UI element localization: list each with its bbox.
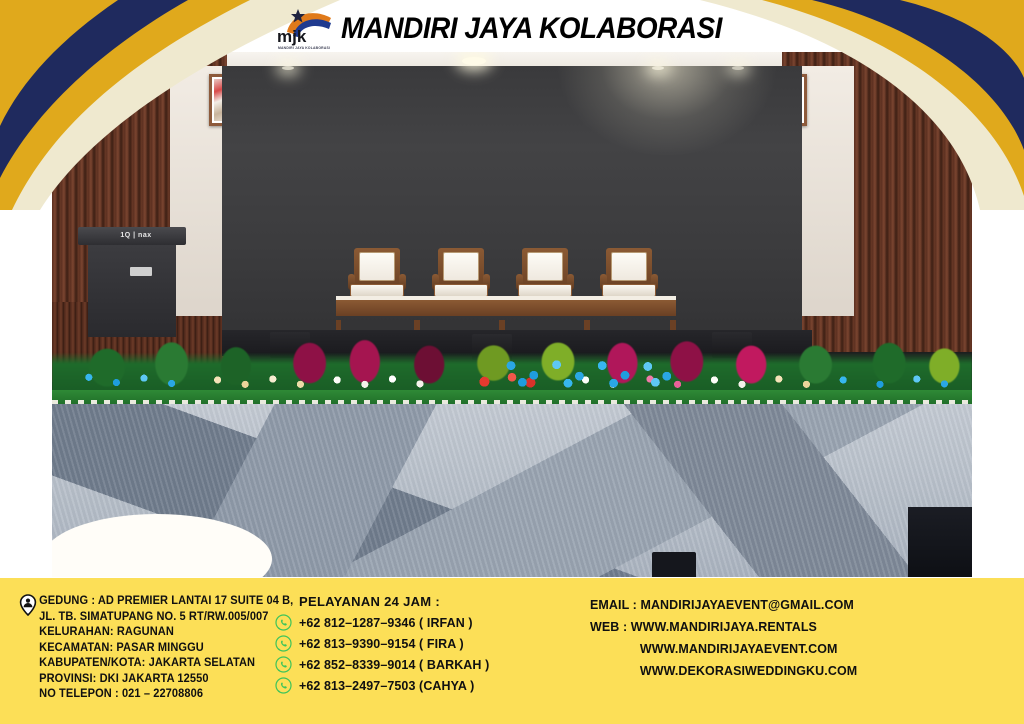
floor-object-right — [908, 507, 972, 577]
event-venue-photo: EXIT 1Q | nax — [52, 52, 972, 577]
web-line[interactable]: WEB : WWW.MANDIRIJAYA.RENTALS — [590, 616, 993, 638]
whatsapp-icon — [275, 656, 292, 673]
web-line-extra[interactable]: WWW.DEKORASIWEDDINGKU.COM — [590, 660, 993, 682]
ceiling-spotlight — [652, 66, 664, 70]
contact-row[interactable]: +62 812–1287–9346 ( IRFAN ) — [275, 614, 565, 631]
podium-nameplate — [130, 267, 152, 276]
svg-text:mjk: mjk — [277, 27, 307, 46]
floor-object-center — [652, 552, 696, 577]
contact-number: +62 813–9390–9154 ( FIRA ) — [299, 636, 464, 651]
ceiling-spotlight — [732, 66, 744, 70]
podium-brand-label: 1Q | nax — [96, 232, 176, 239]
contact-number: +62 812–1287–9346 ( IRFAN ) — [299, 615, 473, 630]
backdrop-light-glow — [552, 66, 782, 246]
contact-row[interactable]: +62 852–8339–9014 ( BARKAH ) — [275, 656, 565, 673]
exit-sign: EXIT — [116, 60, 154, 73]
address-line: GEDUNG : AD PREMIER LANTAI 17 SUITE 04 B… — [18, 594, 277, 610]
company-logo: mjk MANDIRI JAYA KOLABORASI — [273, 6, 335, 52]
contact-number: +62 813–2497–7503 (CAHYA ) — [299, 678, 474, 693]
contact-number: +62 852–8339–9014 ( BARKAH ) — [299, 657, 489, 672]
address-line: KABUPATEN/KOTA: JAKARTA SELATAN — [18, 656, 277, 672]
ceiling-spotlight — [462, 57, 486, 65]
contact-row[interactable]: +62 813–9390–9154 ( FIRA ) — [275, 635, 565, 652]
whatsapp-icon — [275, 614, 292, 631]
page-header: mjk MANDIRI JAYA KOLABORASI MANDIRI JAYA… — [0, 0, 1024, 58]
footer-contact-block: EMAIL : MANDIRIJAYAEVENT@GMAIL.COM WEB :… — [590, 594, 1010, 682]
blue-rose-cluster — [492, 348, 682, 392]
whatsapp-icon — [275, 677, 292, 694]
page-title: MANDIRI JAYA KOLABORASI — [341, 12, 722, 46]
web-line-extra[interactable]: WWW.MANDIRIJAYAEVENT.COM — [590, 638, 993, 660]
service-heading: PELAYANAN 24 JAM : — [299, 594, 565, 609]
address-line: PROVINSI: DKI JAKARTA 12550 — [18, 672, 277, 688]
address-line: JL. TB. SIMATUPANG NO. 5 RT/RW.005/007 — [18, 610, 277, 626]
email-line[interactable]: EMAIL : MANDIRIJAYAEVENT@GMAIL.COM — [590, 594, 993, 616]
contact-row[interactable]: +62 813–2497–7503 (CAHYA ) — [275, 677, 565, 694]
svg-text:MANDIRI JAYA KOLABORASI: MANDIRI JAYA KOLABORASI — [278, 46, 330, 50]
address-line: KELURAHAN: RAGUNAN — [18, 625, 277, 641]
mjk-logo-icon: mjk MANDIRI JAYA KOLABORASI — [273, 6, 335, 52]
whatsapp-icon — [275, 635, 292, 652]
address-line: NO TELEPON : 021 – 22708806 — [18, 687, 277, 703]
page-footer: GEDUNG : AD PREMIER LANTAI 17 SUITE 04 B… — [0, 578, 1024, 724]
ceiling-spotlight — [282, 66, 294, 70]
footer-address-block: GEDUNG : AD PREMIER LANTAI 17 SUITE 04 B… — [18, 594, 288, 703]
footer-service-block: PELAYANAN 24 JAM : +62 812–1287–9346 ( I… — [275, 594, 565, 698]
address-line: KECAMATAN: PASAR MINGGU — [18, 641, 277, 657]
